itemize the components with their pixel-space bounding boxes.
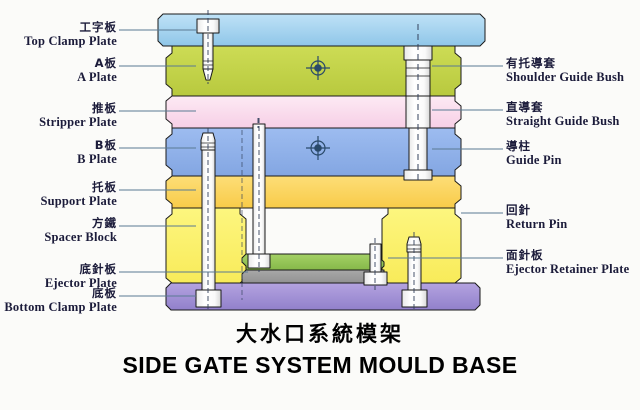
diagram-canvas: 工字板 Top Clamp Plate A板 A Plate 推板 Stripp… (0, 0, 640, 410)
label-return-pin-en: Return Pin (506, 217, 567, 231)
label-spacer-block-cn: 方鐵 (0, 217, 117, 230)
label-spacer-block-en: Spacer Block (0, 230, 117, 244)
label-b-plate-en: B Plate (0, 152, 117, 166)
label-straight-guide-bush: 直導套 Straight Guide Bush (506, 101, 620, 128)
label-shoulder-guide-bush-cn: 有托導套 (506, 57, 624, 70)
return-pin-left-shaft (202, 150, 215, 290)
label-shoulder-guide-bush: 有托導套 Shoulder Guide Bush (506, 57, 624, 84)
label-ejector-plate-cn: 底針板 (0, 263, 117, 276)
label-ejector-retainer-plate-cn: 面針板 (506, 249, 629, 262)
label-bottom-clamp-plate: 底板 Bottom Clamp Plate (0, 287, 117, 314)
label-bottom-clamp-plate-cn: 底板 (0, 287, 117, 300)
label-top-clamp-plate-en: Top Clamp Plate (0, 34, 117, 48)
label-support-plate: 托板 Support Plate (0, 181, 117, 208)
ejector-pin-right-head (364, 272, 387, 285)
label-b-plate-cn: B板 (0, 139, 117, 152)
label-ejector-retainer-plate: 面針板 Ejector Retainer Plate (506, 249, 629, 276)
label-guide-pin: 導柱 Guide Pin (506, 140, 562, 167)
label-straight-guide-bush-cn: 直導套 (506, 101, 620, 114)
label-ejector-retainer-plate-en: Ejector Retainer Plate (506, 262, 629, 276)
label-return-pin: 回針 Return Pin (506, 204, 567, 231)
label-straight-guide-bush-en: Straight Guide Bush (506, 114, 620, 128)
label-support-plate-en: Support Plate (0, 194, 117, 208)
title-english: SIDE GATE SYSTEM MOULD BASE (0, 352, 640, 379)
label-a-plate-en: A Plate (0, 70, 117, 84)
label-spacer-block: 方鐵 Spacer Block (0, 217, 117, 244)
label-bottom-clamp-plate-en: Bottom Clamp Plate (0, 300, 117, 314)
label-stripper-plate-cn: 推板 (0, 102, 117, 115)
straight-guide-bush (406, 96, 430, 128)
return-pin-left-head (196, 290, 221, 307)
label-top-clamp-plate-cn: 工字板 (0, 21, 117, 34)
label-b-plate: B板 B Plate (0, 139, 117, 166)
diagram-title: 大水口系統模架 SIDE GATE SYSTEM MOULD BASE (0, 318, 640, 379)
label-stripper-plate-en: Stripper Plate (0, 115, 117, 129)
label-guide-pin-en: Guide Pin (506, 153, 562, 167)
label-top-clamp-plate: 工字板 Top Clamp Plate (0, 21, 117, 48)
label-return-pin-cn: 回針 (506, 204, 567, 217)
label-shoulder-guide-bush-en: Shoulder Guide Bush (506, 70, 624, 84)
label-stripper-plate: 推板 Stripper Plate (0, 102, 117, 129)
label-guide-pin-cn: 導柱 (506, 140, 562, 153)
label-a-plate-cn: A板 (0, 57, 117, 70)
ejector-pin-right-shaft (370, 244, 381, 272)
return-pin-right-head (402, 290, 427, 307)
label-a-plate: A板 A Plate (0, 57, 117, 84)
title-chinese: 大水口系統模架 (0, 318, 640, 348)
label-support-plate-cn: 托板 (0, 181, 117, 194)
